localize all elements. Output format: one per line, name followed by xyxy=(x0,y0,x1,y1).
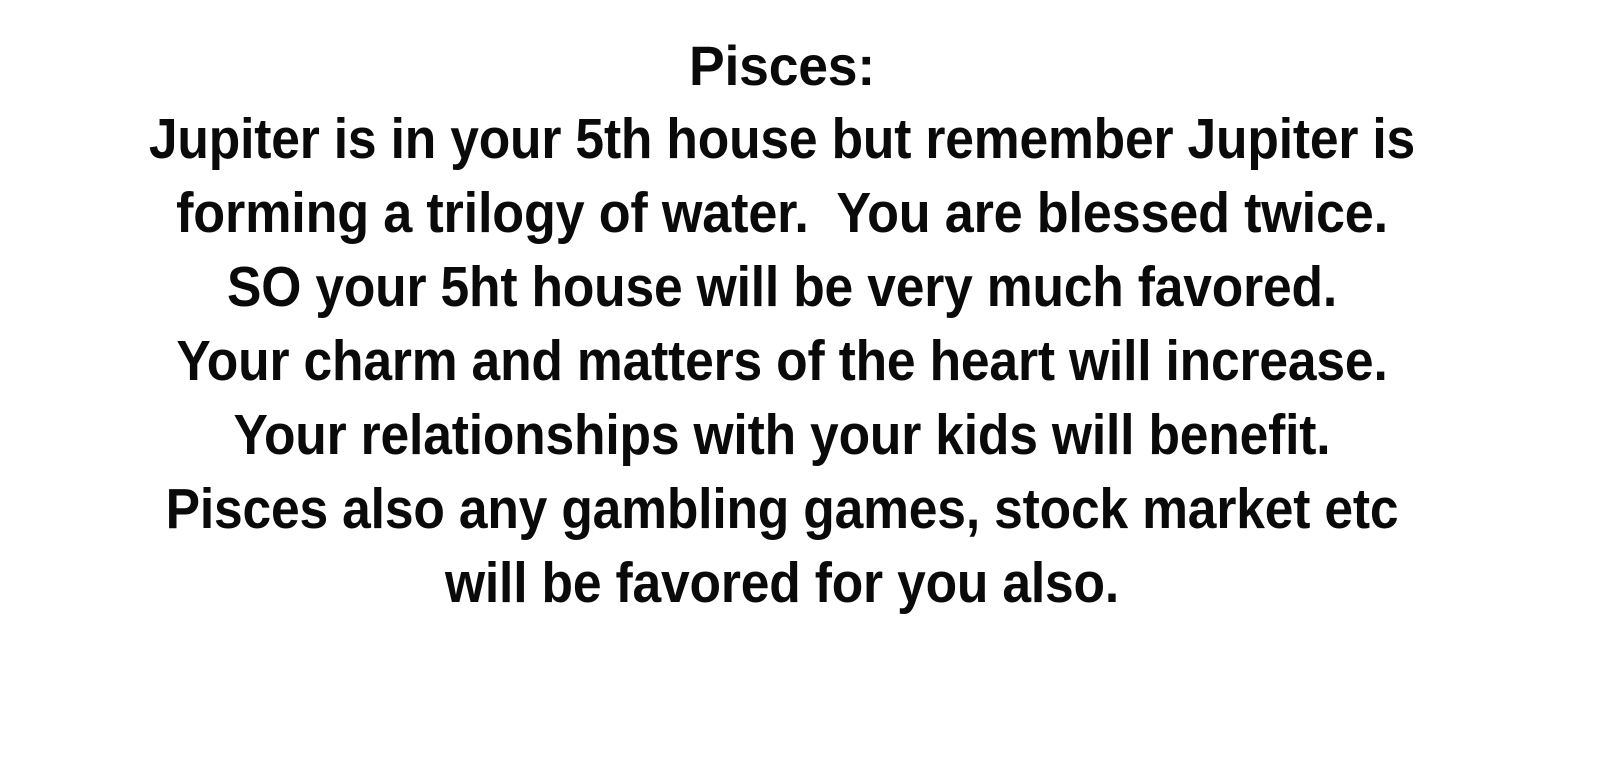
body-line-1: Jupiter is in your 5th house but remembe… xyxy=(74,102,1489,176)
slide-title: Pisces: xyxy=(35,30,1529,102)
body-line-2: forming a trilogy of water. You are bles… xyxy=(66,176,1497,250)
slide-canvas: Pisces: Jupiter is in your 5th house but… xyxy=(0,0,1600,757)
body-line-6: Pisces also any gambling games, stock ma… xyxy=(74,472,1489,546)
body-line-4: Your charm and matters of the heart will… xyxy=(74,324,1489,398)
body-line-3: SO your 5ht house will be very much favo… xyxy=(74,250,1489,324)
body-line-7: will be favored for you also. xyxy=(74,546,1489,620)
horoscope-text-block: Pisces: Jupiter is in your 5th house but… xyxy=(0,30,1564,620)
body-line-5: Your relationships with your kids will b… xyxy=(74,398,1489,472)
